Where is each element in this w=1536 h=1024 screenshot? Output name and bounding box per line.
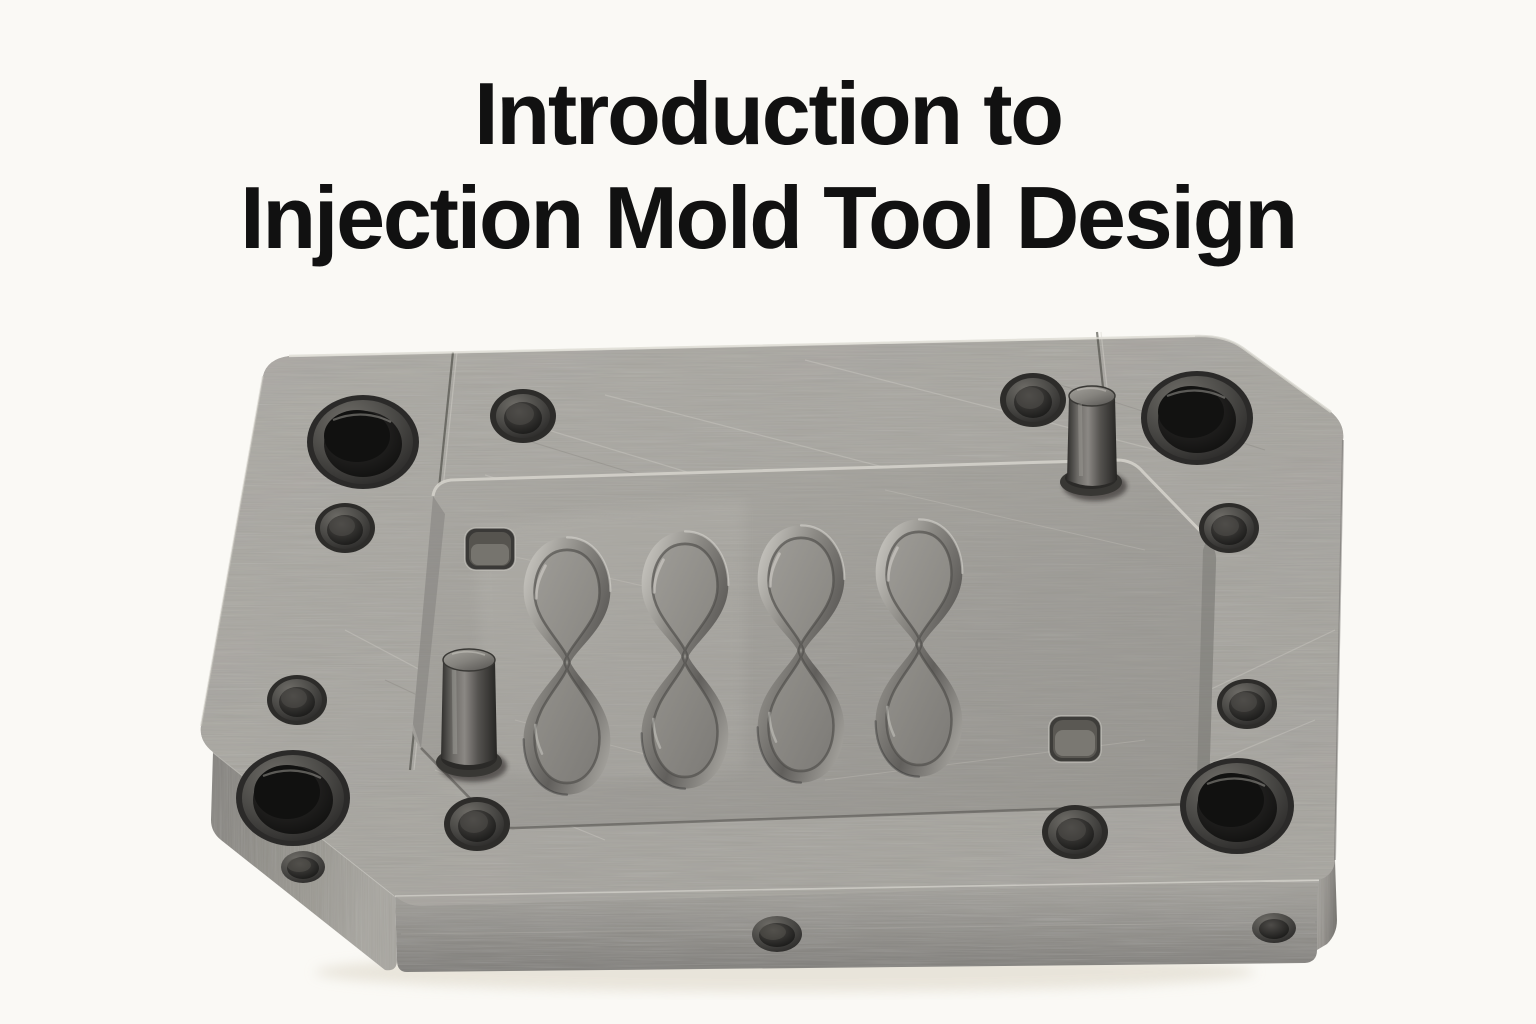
- threaded-hole-top: [1217, 679, 1277, 729]
- threaded-hole-top: [1199, 503, 1259, 553]
- guide-bushing: [236, 750, 350, 846]
- page-title: Introduction to Injection Mold Tool Desi…: [0, 62, 1536, 270]
- injection-mold-tool-image: [185, 300, 1360, 1000]
- threaded-hole-top: [1042, 805, 1108, 859]
- threaded-hole-top: [1000, 373, 1066, 427]
- mold-tool-svg: [185, 300, 1360, 1000]
- slide-canvas: Introduction to Injection Mold Tool Desi…: [0, 0, 1536, 1024]
- guide-bushing: [1141, 371, 1253, 465]
- interlock-pocket: [1049, 716, 1101, 762]
- guide-bushing: [307, 395, 419, 489]
- threaded-hole-top: [315, 503, 375, 553]
- interlock-pocket: [465, 528, 515, 570]
- threaded-hole-top: [267, 675, 327, 725]
- page-title-line-1: Introduction to: [0, 62, 1536, 166]
- guide-bushing: [1180, 758, 1294, 854]
- threaded-hole-top: [490, 389, 556, 443]
- page-title-line-2: Injection Mold Tool Design: [0, 166, 1536, 270]
- threaded-hole-top: [444, 797, 510, 851]
